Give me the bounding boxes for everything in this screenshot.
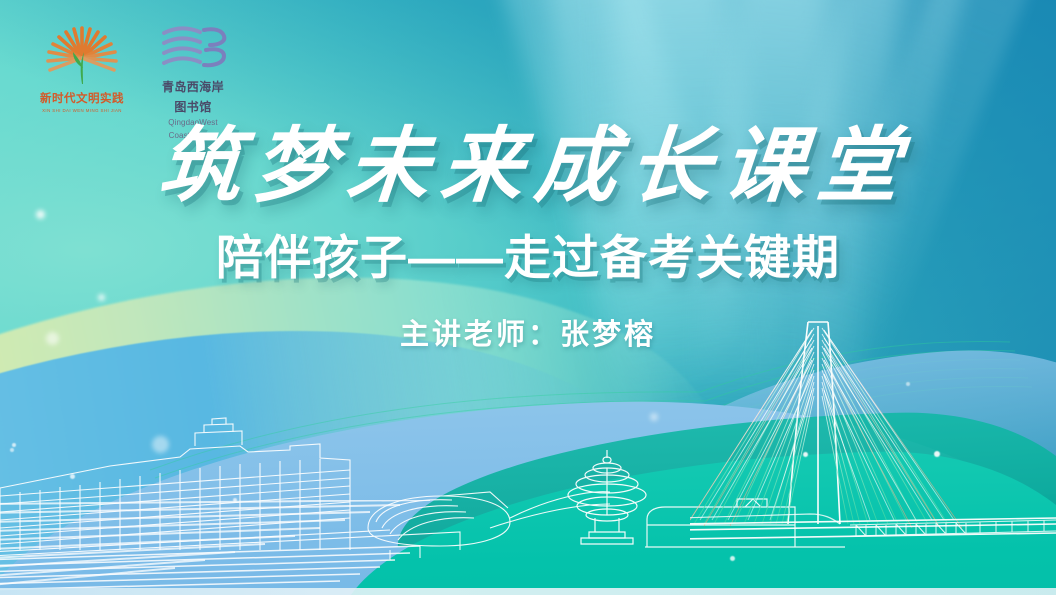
bokeh-dot [650, 413, 658, 421]
bokeh-dot [10, 448, 14, 452]
logo-xinshidai-name: 新时代文明实践 [36, 93, 128, 106]
headline-block: 筑梦未来成长课堂 陪伴孩子——走过备考关键期 主讲老师：张梦榕 [0, 126, 1056, 353]
bokeh-dot [803, 452, 808, 457]
bottom-edge-stripe [0, 588, 1056, 595]
logo-library-name-line2: 图书馆 [154, 101, 232, 115]
bokeh-dot [934, 451, 940, 457]
speaker-line: 主讲老师：张梦榕 [0, 311, 1056, 353]
poster-canvas: 新时代文明实践 XIN SHI DAI WEN MING SHI JIAN 青岛… [0, 0, 1056, 595]
bokeh-dot [730, 556, 735, 561]
logo-library-name-line1: 青岛西海岸 [154, 81, 232, 95]
logo-xinshidai: 新时代文明实践 XIN SHI DAI WEN MING SHI JIAN [36, 24, 128, 113]
page-title: 筑梦未来成长课堂 [0, 126, 1056, 208]
page-subtitle: 陪伴孩子——走过备考关键期 [0, 234, 1056, 281]
sunburst-sprout-icon [36, 24, 128, 86]
bokeh-dot [906, 382, 910, 386]
bokeh-dot [70, 474, 75, 479]
bokeh-dot [233, 498, 237, 502]
wave-book-icon [158, 24, 228, 70]
bokeh-dot [12, 443, 16, 447]
logo-xinshidai-pinyin: XIN SHI DAI WEN MING SHI JIAN [38, 108, 125, 113]
bokeh-dot [152, 436, 169, 453]
